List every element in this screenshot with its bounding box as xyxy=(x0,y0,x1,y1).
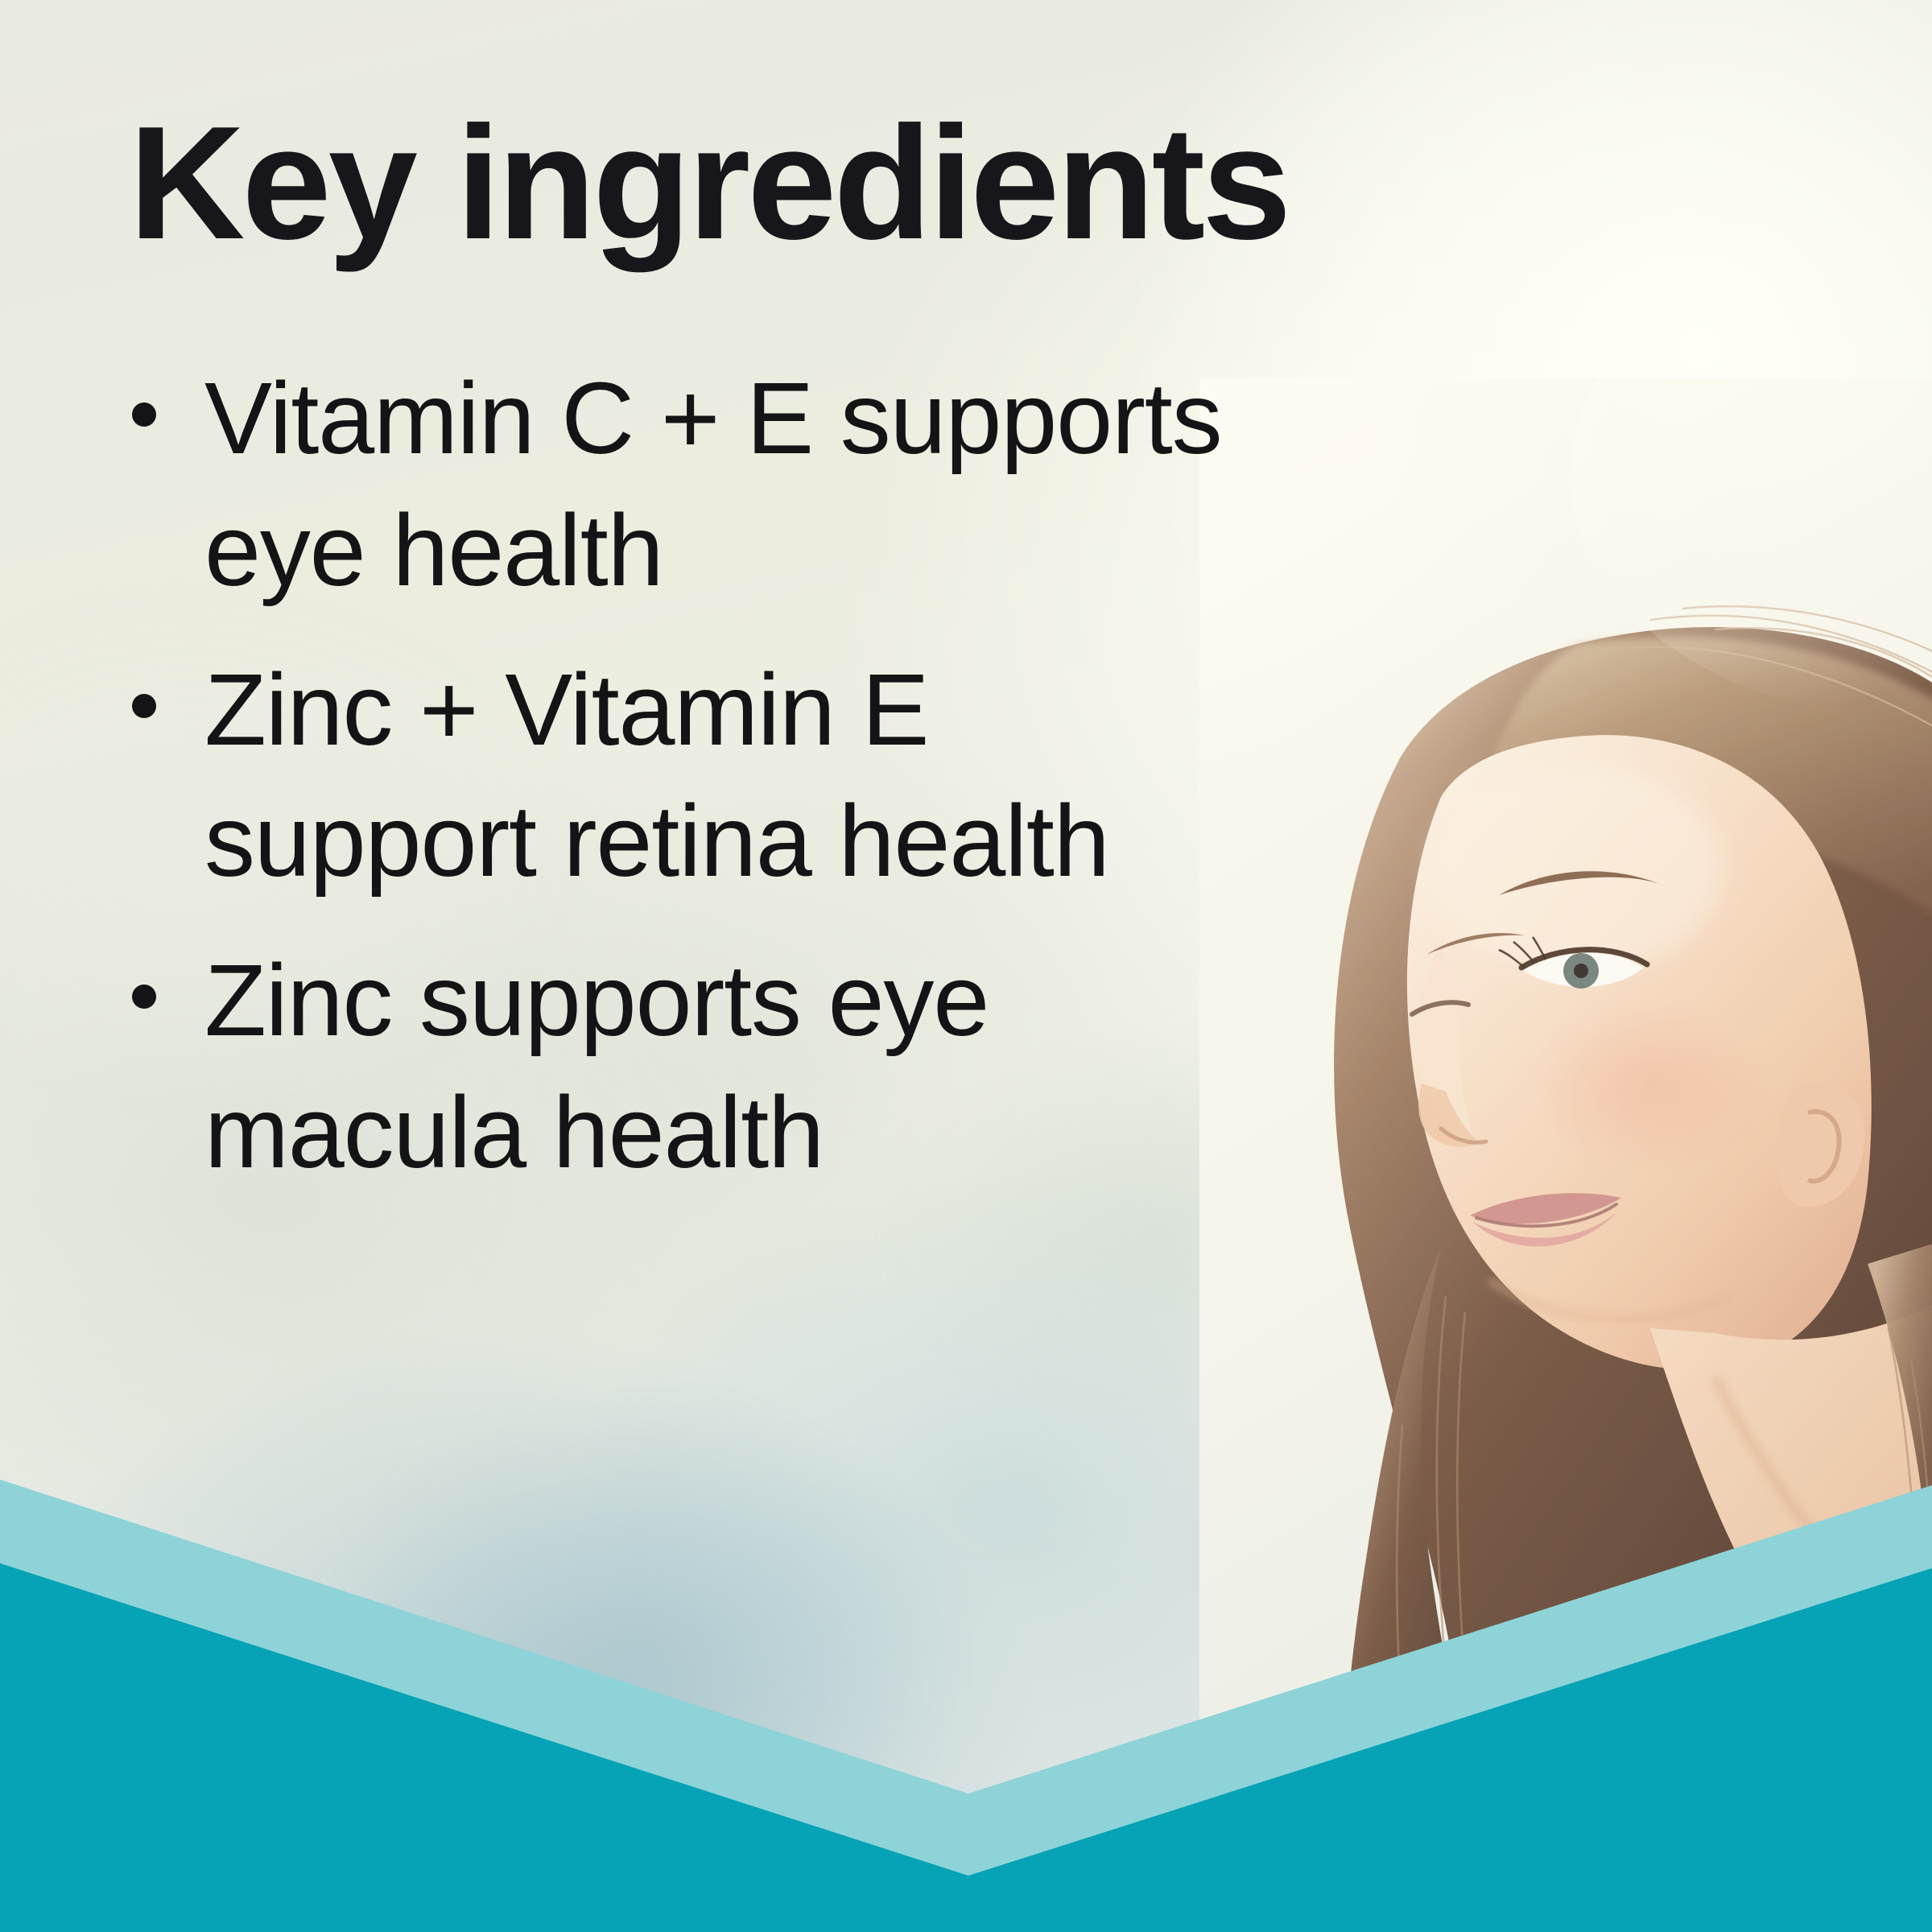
list-item-label: Vitamin C + E supports eye health xyxy=(204,353,1254,617)
list-item-label: Zinc supports eye macula health xyxy=(204,935,1254,1199)
slide-canvas: Key ingredients Vitamin C + E supports e… xyxy=(0,0,1932,1932)
list-item-label: Zinc + Vitamin E support retina health xyxy=(204,644,1254,908)
list-item: Vitamin C + E supports eye health xyxy=(111,353,1254,617)
page-title: Key ingredients xyxy=(129,103,1288,264)
bullet-dot-icon xyxy=(132,985,156,1009)
bullet-dot-icon xyxy=(132,694,156,718)
bullet-dot-icon xyxy=(132,402,156,427)
ingredient-list: Vitamin C + E supports eye health Zinc +… xyxy=(111,353,1254,1199)
list-item: Zinc supports eye macula health xyxy=(111,935,1254,1199)
list-item: Zinc + Vitamin E support retina health xyxy=(111,644,1254,908)
